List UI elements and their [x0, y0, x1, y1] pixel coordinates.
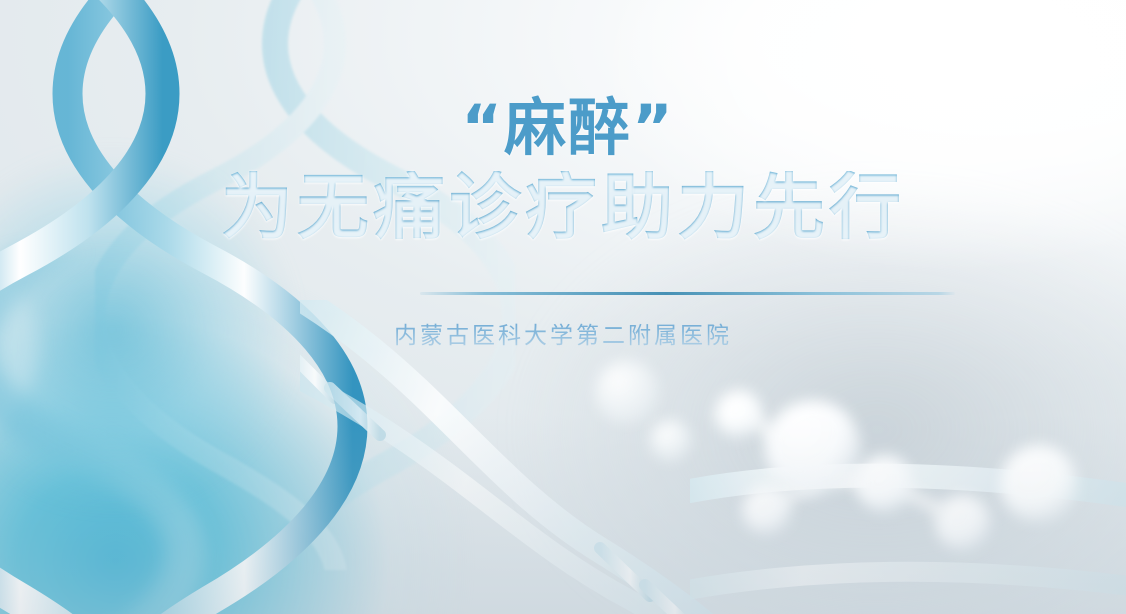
organization-subtitle: 内蒙古医科大学第二附属医院 — [0, 316, 1126, 350]
background-bottom-mist — [0, 414, 1126, 614]
title-line-secondary: 为无痛诊疗助力先行 — [0, 171, 1126, 244]
presentation-title-slide: “麻醉” 为无痛诊疗助力先行 内蒙古医科大学第二附属医院 — [0, 0, 1126, 614]
title-line-primary: “麻醉” — [0, 96, 1126, 159]
title-block: “麻醉” 为无痛诊疗助力先行 — [0, 96, 1126, 245]
title-divider-rule — [420, 292, 955, 295]
